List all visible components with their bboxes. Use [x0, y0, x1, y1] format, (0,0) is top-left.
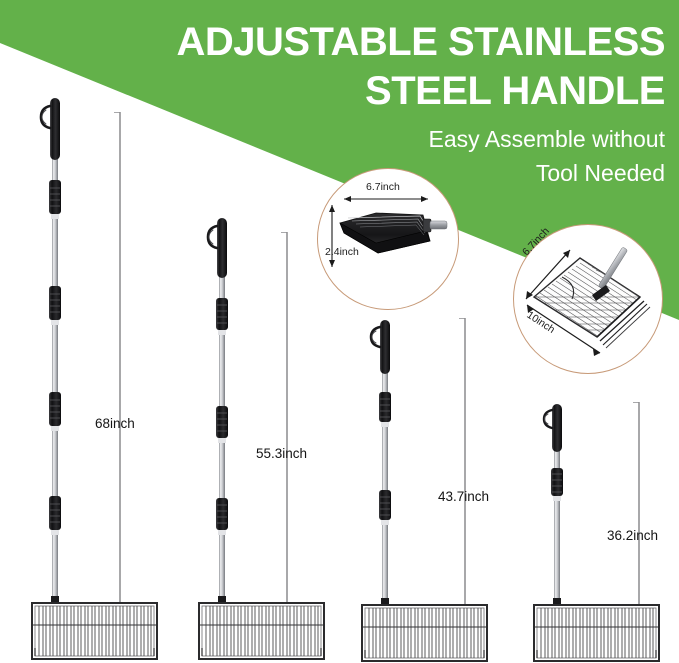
folded-height-label: 2.4inch [325, 246, 359, 258]
wire-rake-head [534, 605, 659, 661]
wire-rake-head [32, 603, 157, 659]
rake-1-illustration [22, 96, 172, 663]
subtitle-line-2: Tool Needed [536, 162, 665, 185]
length-label-2: 55.3inch [256, 446, 307, 461]
rake-1 [22, 96, 172, 663]
headline-line-2: STEEL HANDLE [365, 72, 665, 111]
length-label-4: 36.2inch [607, 528, 658, 543]
infographic-canvas: ADJUSTABLE STAINLESS STEEL HANDLE Easy A… [0, 0, 679, 663]
wire-rake-head [362, 605, 487, 661]
length-label-3: 43.7inch [438, 489, 489, 504]
rake-2 [189, 216, 339, 663]
headline-line-1: ADJUSTABLE STAINLESS [176, 23, 665, 62]
subtitle-line-1: Easy Assemble without [428, 128, 665, 151]
folded-width-label: 6.7inch [366, 181, 400, 193]
length-label-1: 68inch [95, 416, 135, 431]
wire-rake-head [199, 603, 324, 659]
rake-2-illustration [189, 216, 339, 663]
